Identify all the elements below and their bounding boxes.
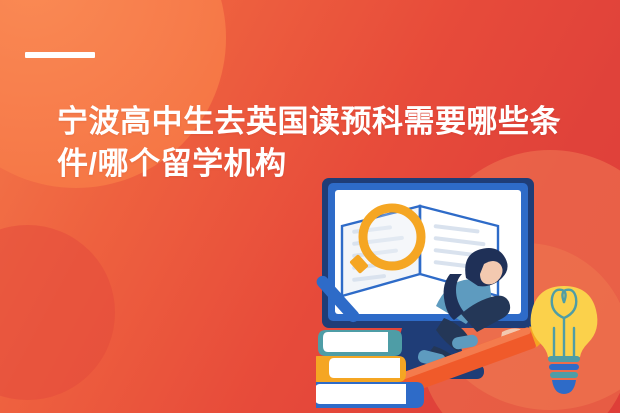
list-item (316, 356, 406, 382)
promo-banner: 宁波高中生去英国读预科需要哪些条件/哪个留学机构 (0, 0, 620, 413)
study-abroad-illustration (316, 178, 620, 413)
page-title: 宁波高中生去英国读预科需要哪些条件/哪个留学机构 (57, 101, 577, 185)
list-item (316, 382, 424, 408)
lightbulb-icon (531, 286, 598, 394)
decorative-circle-bottom-left (0, 225, 115, 400)
list-item (318, 330, 402, 356)
accent-rule (25, 52, 95, 58)
